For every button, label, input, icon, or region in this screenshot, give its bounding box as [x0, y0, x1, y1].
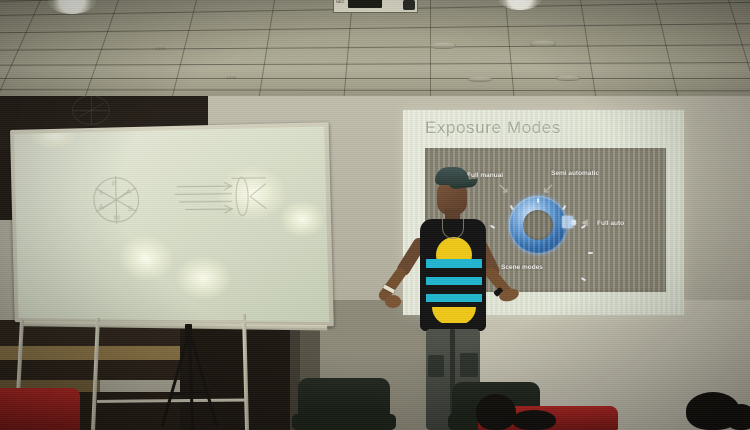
arrow-to-semi-automatic-icon: ↙	[542, 181, 555, 196]
audience-member-1	[476, 394, 516, 430]
whiteboard: P A S M A s	[10, 122, 334, 326]
suspended-ceiling: 1200 1200	[0, 0, 750, 96]
recessed-ceiling-light-2	[498, 0, 542, 10]
whiteboard-sketch-lens	[167, 172, 267, 221]
dial-selector-nub-2	[571, 220, 576, 225]
svg-text:M: M	[114, 214, 120, 222]
audience-member-2	[512, 410, 556, 430]
ceiling-projector: NEC	[333, 0, 418, 13]
wall-emblem-icon	[72, 95, 110, 125]
label-semi-automatic: Semi automatic	[551, 170, 599, 177]
classroom-presentation-scene: 1200 1200 NEC Exposure Modes Full manual…	[0, 0, 750, 430]
ceiling-air-vent-1	[430, 42, 456, 49]
slide-title: Exposure Modes	[425, 118, 561, 138]
tee-stripe-3	[426, 294, 482, 302]
tee-stripe-2	[426, 277, 482, 285]
ceiling-air-vent-3	[468, 76, 492, 82]
svg-text:S: S	[127, 205, 132, 213]
svg-text:A: A	[126, 188, 131, 196]
whiteboard-sketch-dial: P A S M A s	[88, 172, 145, 228]
tee-black-band-2	[426, 285, 482, 294]
red-auditorium-chair-left	[0, 388, 80, 430]
svg-text:P: P	[112, 180, 117, 188]
svg-text:A: A	[99, 203, 104, 211]
svg-text:s: s	[99, 188, 103, 196]
wall-panel-dark-2	[0, 360, 180, 380]
label-full-auto: Full auto	[597, 220, 624, 227]
projector-brand-text: NEC	[336, 0, 344, 4]
projector-lens-icon	[403, 0, 415, 10]
wall-panel-tan-1	[0, 346, 180, 360]
recessed-ceiling-light-1	[48, 0, 96, 14]
ceiling-tile-text-2: 1200	[226, 75, 237, 80]
whiteboard-surface: P A S M A s	[14, 127, 329, 323]
audience-member-4	[726, 404, 750, 430]
conference-chair-1-arm	[292, 414, 396, 430]
presenter-cap-brim	[448, 178, 479, 189]
tee-stripe-1	[426, 259, 482, 268]
ceiling-tile-text-1: 1200	[155, 46, 166, 51]
tee-black-band-1	[426, 268, 482, 277]
ceiling-air-vent-2	[530, 40, 556, 47]
ceiling-air-vent-4	[556, 75, 580, 81]
presenter-hand-right	[385, 295, 401, 308]
